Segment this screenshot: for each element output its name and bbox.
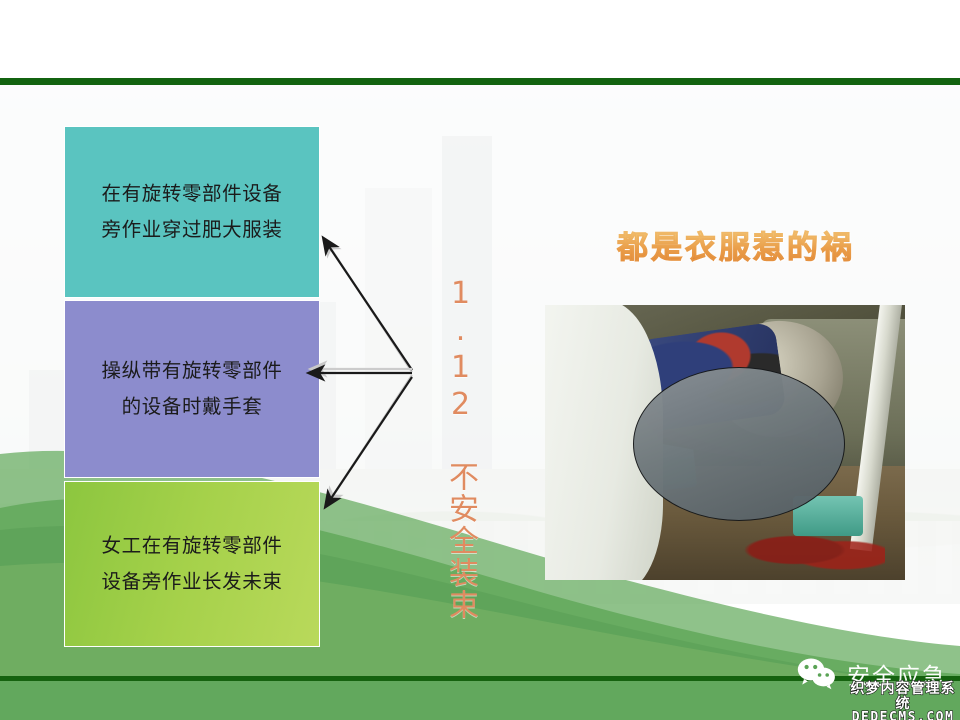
cause-box-line-1: 女工在有旋转零部件	[102, 528, 283, 564]
top-divider-rule	[0, 78, 960, 85]
censor-ellipse	[633, 367, 845, 521]
watermark-en: DEDECMS.COM	[846, 711, 960, 720]
cause-box-line-2: 设备旁作业长发未束	[102, 564, 283, 600]
connector-arrow-svg	[300, 225, 440, 515]
wechat-icon	[796, 657, 838, 691]
cause-box-line-2: 的设备时戴手套	[122, 389, 263, 425]
cause-box-line-1: 在有旋转零部件设备	[102, 176, 283, 212]
cause-box-line-1: 操纵带有旋转零部件	[102, 353, 283, 389]
cause-box-gloves[interactable]: 操纵带有旋转零部件 的设备时戴手套	[64, 300, 320, 478]
connector-arrow-group	[300, 225, 440, 515]
photo-headline: 都是衣服惹的祸	[617, 222, 855, 267]
cause-box-loose-clothing[interactable]: 在有旋转零部件设备 旁作业穿过肥大服装	[64, 126, 320, 298]
slide-canvas: 在有旋转零部件设备 旁作业穿过肥大服装 操纵带有旋转零部件 的设备时戴手套 女工…	[0, 0, 960, 720]
site-watermark: 织梦内容管理系统 DEDECMS.COM	[846, 682, 960, 720]
cause-box-line-2: 旁作业穿过肥大服装	[102, 212, 283, 248]
cause-box-stack: 在有旋转零部件设备 旁作业穿过肥大服装 操纵带有旋转零部件 的设备时戴手套 女工…	[64, 126, 320, 647]
cause-box-long-hair[interactable]: 女工在有旋转零部件 设备旁作业长发未束	[64, 481, 320, 647]
watermark-cn: 织梦内容管理系统	[846, 682, 960, 711]
arrow-to-box-3	[326, 377, 412, 506]
accident-photo	[545, 305, 905, 580]
section-title-vertical: 1.12 不安全装束	[432, 276, 478, 621]
arrow-to-box-1	[324, 239, 412, 370]
